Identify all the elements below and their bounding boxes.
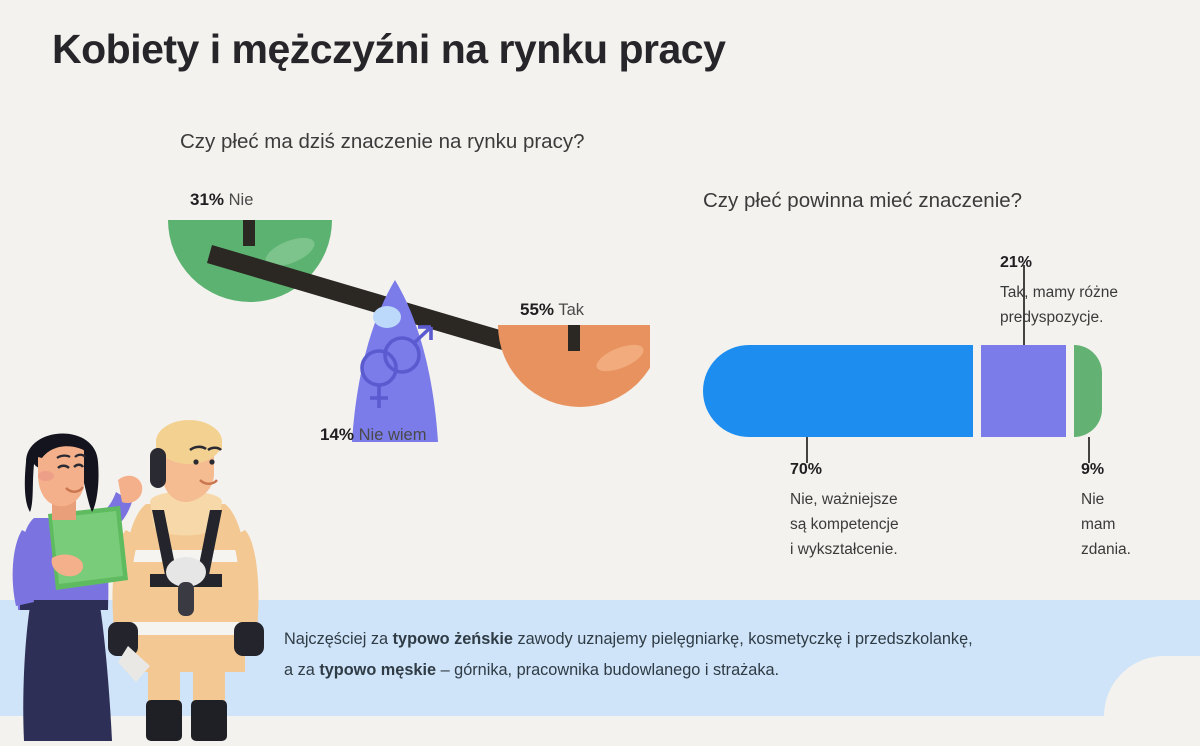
callout-9-line3: zdania.: [1081, 541, 1131, 558]
scale-pan-orange: [498, 325, 650, 407]
footer-l1-bold: typowo żeńskie: [393, 630, 513, 648]
callout-9-pct: 9%: [1081, 457, 1181, 483]
scale-pct-nie: 31%: [190, 190, 224, 209]
footer-l2-mid: – górnika, pracownika budowlanego i stra…: [436, 661, 779, 679]
right-question-heading: Czy płeć powinna mieć znaczenie?: [703, 189, 1022, 213]
people-illustration-svg: [0, 410, 300, 741]
scale-label-niewiem: 14% Nie wiem: [320, 425, 426, 445]
infographic-canvas: Kobiety i mężczyźni na rynku pracy Czy p…: [0, 0, 1200, 741]
callout-21-line1: Tak, mamy różne: [1000, 284, 1118, 301]
scale-text-tak: Tak: [558, 301, 584, 319]
scale-text-niewiem: Nie wiem: [359, 426, 427, 444]
callout-21-line2: predyspozycje.: [1000, 309, 1103, 326]
illustration-woman-and-firefighter: [0, 410, 300, 741]
callout-70-line2: są kompetencje: [790, 516, 899, 533]
callout-9-line1: Nie: [1081, 491, 1104, 508]
callout-70-line3: i wykształcenie.: [790, 541, 898, 558]
bar-segment-21: [981, 345, 1066, 437]
left-question-heading: Czy płeć ma dziś znaczenie na rynku prac…: [180, 130, 585, 154]
callout-21: 21% Tak, mamy różne predyspozycje.: [1000, 250, 1190, 330]
scale-label-nie: 31% Nie: [190, 190, 253, 210]
firefighter-figure: [108, 420, 264, 741]
scale-text-nie: Nie: [229, 191, 254, 209]
scale-label-tak: 55% Tak: [520, 300, 584, 320]
footer-banner-text: Najczęściej za typowo żeńskie zawody uzn…: [284, 624, 1144, 687]
bar-segment-9: [1074, 345, 1102, 437]
footer-l1-mid: zawody uznajemy pielęgniarkę, kosmetyczk…: [513, 630, 973, 648]
callout-21-pct: 21%: [1000, 250, 1190, 276]
scale-pct-tak: 55%: [520, 300, 554, 319]
bar-segment-70: [703, 345, 973, 437]
footer-l2-bold: typowo męskie: [319, 661, 436, 679]
footer-line-2: a za typowo męskie – górnika, pracownika…: [284, 655, 1144, 686]
callout-9: 9% Nie mam zdania.: [1081, 457, 1181, 562]
footer-l1-pre: Najczęściej za: [284, 630, 393, 648]
page-title: Kobiety i mężczyźni na rynku pracy: [52, 26, 725, 73]
scale-pct-niewiem: 14%: [320, 425, 354, 444]
callout-70-line1: Nie, ważniejsze: [790, 491, 898, 508]
callout-9-line2: mam: [1081, 516, 1115, 533]
footer-line-1: Najczęściej za typowo żeńskie zawody uzn…: [284, 624, 1144, 655]
callout-70: 70% Nie, ważniejsze są kompetencje i wyk…: [790, 457, 970, 562]
callout-70-pct: 70%: [790, 457, 970, 483]
